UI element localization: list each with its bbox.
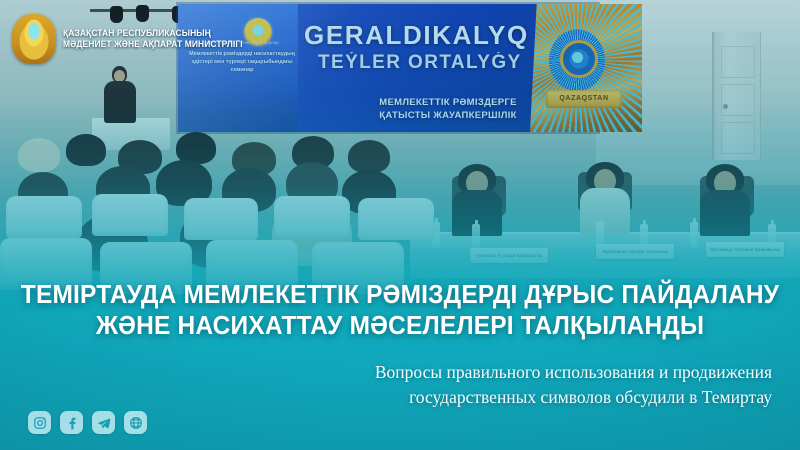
kazakhstan-state-emblem-icon: [12, 14, 56, 64]
ministry-name-line1: ҚАЗАҚСТАН РЕСПУБЛИКАСЫНЫҢ: [63, 28, 243, 40]
instagram-icon[interactable]: [28, 411, 51, 434]
ministry-name-line2: МӘДЕНИЕТ ЖӘНЕ АҚПАРАТ МИНИСТРЛІГІ: [63, 39, 243, 51]
subtitle-line2: государственных символов обсудили в Теми…: [0, 385, 772, 410]
social-links: [28, 411, 147, 434]
subtitle-russian: Вопросы правильного использования и прод…: [0, 360, 800, 410]
news-banner-image: ұлттық мұрағат және сирек қорлар Мемлеке…: [0, 0, 800, 450]
facebook-icon[interactable]: [60, 411, 83, 434]
headline-kazakh: ТЕМІРТАУДА МЕМЛЕКЕТТІК РӘМІЗДЕРДІ ДҰРЫС …: [0, 280, 800, 342]
website-icon[interactable]: [124, 411, 147, 434]
ministry-branding: ҚАЗАҚСТАН РЕСПУБЛИКАСЫНЫҢ МӘДЕНИЕТ ЖӘНЕ …: [12, 14, 254, 64]
telegram-icon[interactable]: [92, 411, 115, 434]
headline-line2: ЖӘНЕ НАСИХАТТАУ МӘСЕЛЕЛЕРІ ТАЛҚЫЛАНДЫ: [16, 311, 784, 342]
subtitle-line1: Вопросы правильного использования и прод…: [0, 360, 772, 385]
ministry-name: ҚАЗАҚСТАН РЕСПУБЛИКАСЫНЫҢ МӘДЕНИЕТ ЖӘНЕ …: [63, 28, 243, 51]
headline-line1: ТЕМІРТАУДА МЕМЛЕКЕТТІК РӘМІЗДЕРДІ ДҰРЫС …: [16, 280, 784, 311]
